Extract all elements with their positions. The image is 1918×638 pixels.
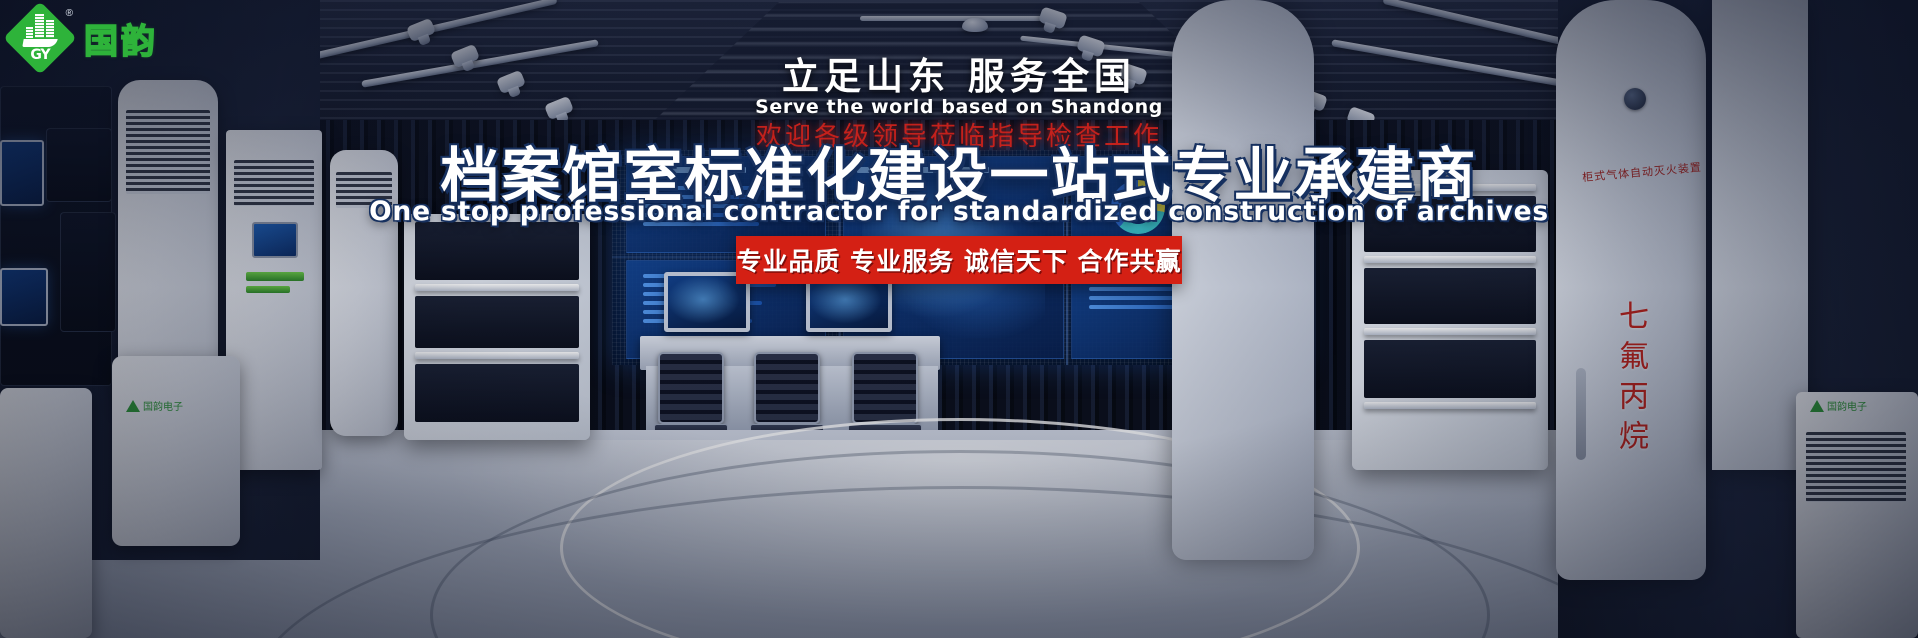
hero-banner: 国韵电子 柜式气体自动灭火装置 七氟丙烷 bbox=[0, 0, 1918, 638]
hero-kicker-cn: 立足山东 服务全国 bbox=[0, 46, 1918, 100]
registered-trademark-icon: ® bbox=[66, 8, 73, 19]
hero-kicker-en: Serve the world based on Shandong bbox=[0, 96, 1918, 118]
slogan-bar: 专业品质 专业服务 诚信天下 合作共赢 bbox=[736, 236, 1182, 284]
buildings-icon bbox=[26, 14, 54, 38]
banner-text-overlay: GY ® 国韵 欢迎各级领导莅临指导检查工作 立足山东 服务全国 Serve t… bbox=[0, 0, 1918, 638]
slogan-bar-text: 专业品质 专业服务 诚信天下 合作共赢 bbox=[736, 242, 1181, 278]
hero-subhead-en: One stop professional contractor for sta… bbox=[0, 196, 1918, 227]
